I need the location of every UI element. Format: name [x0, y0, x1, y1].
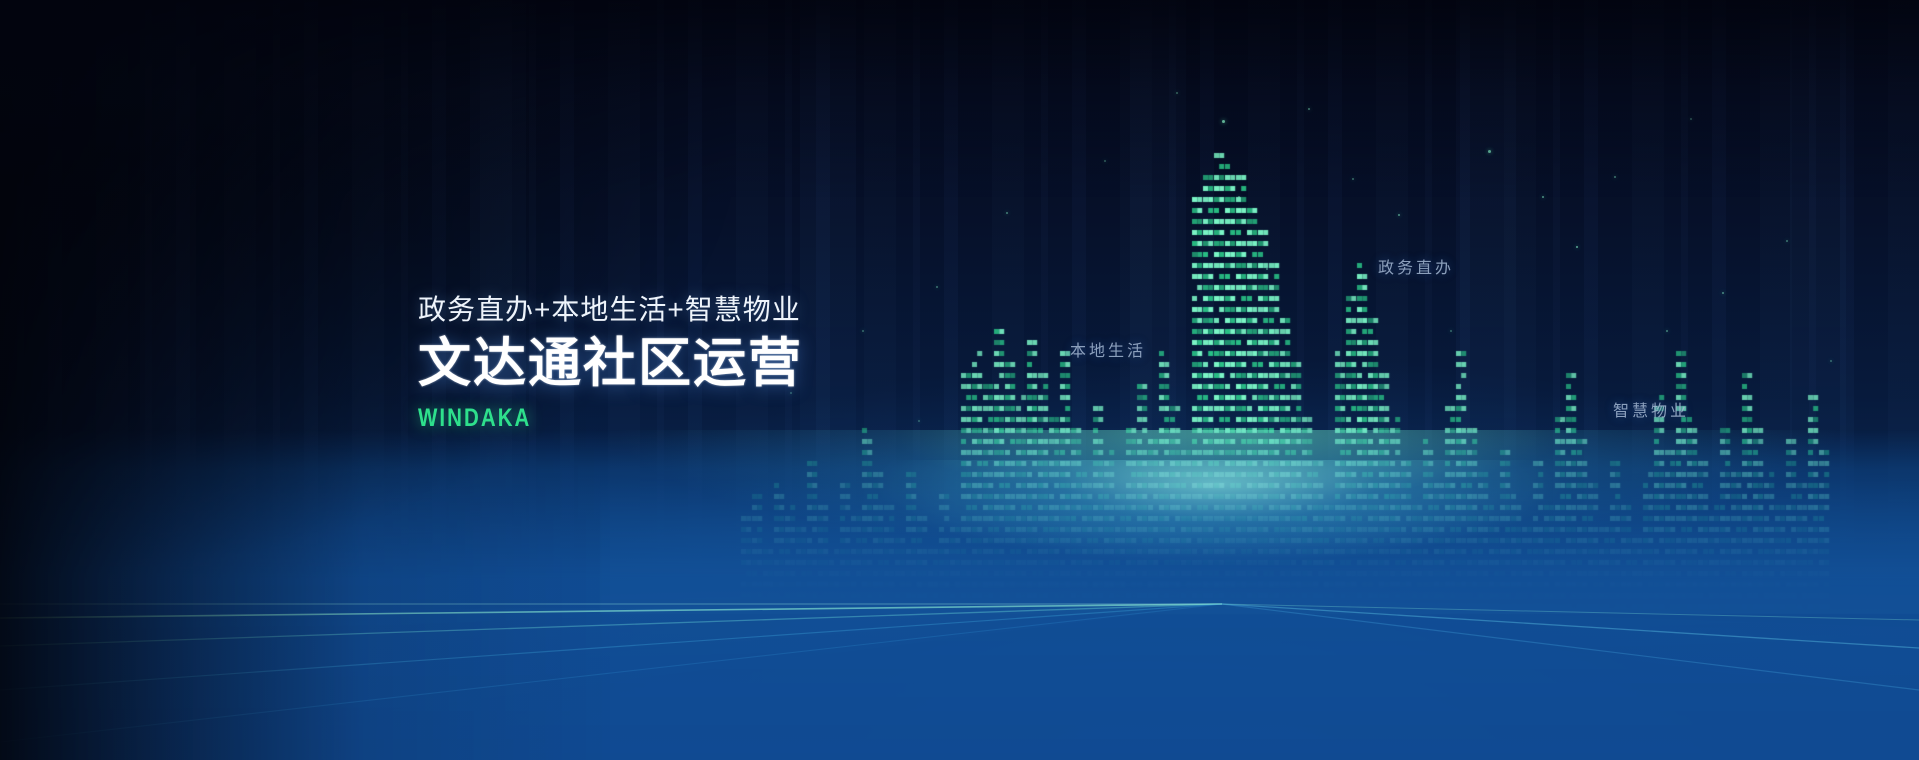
- brand-wordmark: WINDAKA: [418, 404, 1041, 433]
- building-label-gov-service: 政务直办: [1378, 254, 1454, 278]
- building-label-smart-property: 智慧物业: [1613, 397, 1689, 421]
- headline-copy-block: 政务直办+本地生活+智慧物业 文达通社区运营 WINDAKA: [418, 292, 1178, 433]
- hero-banner: 本地生活 政务直办 智慧物业 政务直办+本地生活+智慧物业 文达通社区运营 WI…: [0, 0, 1919, 760]
- banner-title: 文达通社区运营: [418, 333, 1178, 396]
- banner-subtitle: 政务直办+本地生活+智慧物业: [418, 292, 1178, 327]
